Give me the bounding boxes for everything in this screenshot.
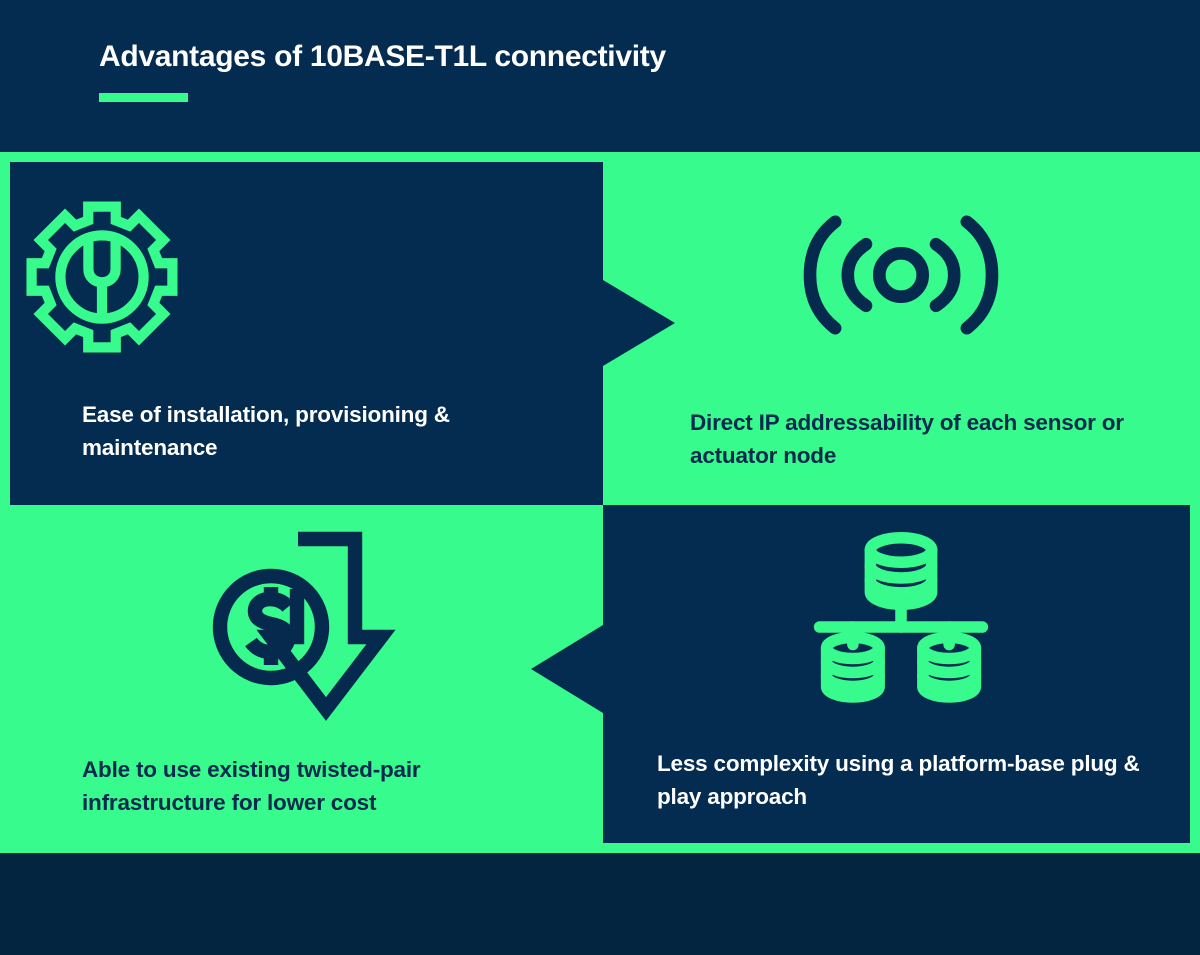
database-network-icon <box>808 529 994 709</box>
card-label: Ease of installation, provisioning & mai… <box>82 398 562 464</box>
gear-wrench-icon <box>22 197 182 362</box>
cost-down-arrow-dollar-icon <box>207 529 397 734</box>
page-title: Advantages of 10BASE-T1L connectivity <box>99 40 666 74</box>
wireless-signal-icon <box>803 205 999 350</box>
card-label: Able to use existing twisted-pair infras… <box>82 753 562 819</box>
title-accent-bar <box>99 93 188 102</box>
footer-band <box>0 853 1200 955</box>
card-less-complexity: Less complexity using a platform-base pl… <box>603 505 1190 843</box>
card-ease-of-installation: Ease of installation, provisioning & mai… <box>10 162 603 505</box>
card-label: Direct IP addressability of each sensor … <box>690 406 1170 472</box>
header: Advantages of 10BASE-T1L connectivity <box>0 0 1200 152</box>
card-twisted-pair-infrastructure: Able to use existing twisted-pair infras… <box>0 505 603 853</box>
infographic-root: Advantages of 10BASE-T1L connectivity Ea… <box>0 0 1200 955</box>
connector-arrow-left <box>531 625 603 713</box>
connector-arrow-right <box>603 280 675 366</box>
card-direct-ip-addressability: Direct IP addressability of each sensor … <box>603 152 1200 505</box>
card-label: Less complexity using a platform-base pl… <box>657 747 1167 813</box>
